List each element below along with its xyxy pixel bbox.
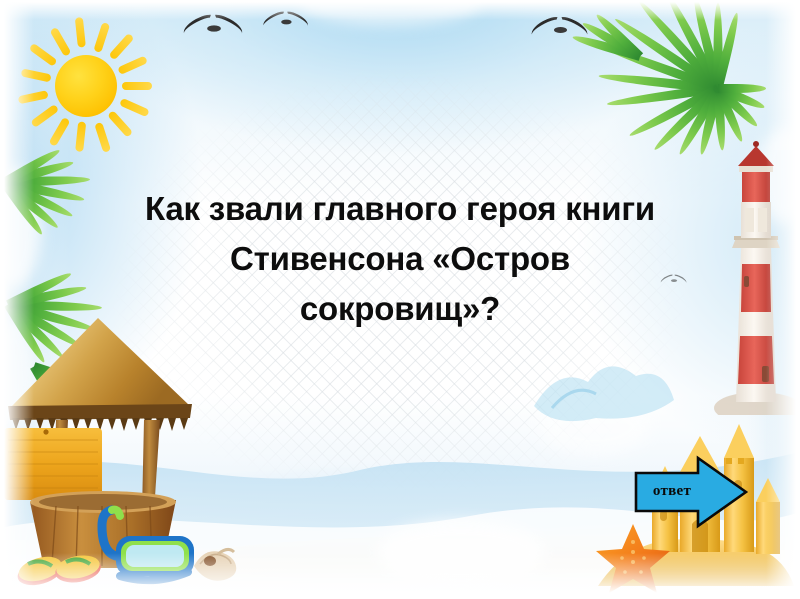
page-title: Как звали главного героя книги Стивенсон…: [40, 184, 760, 334]
palm-frond-icon: [640, 52, 641, 53]
palm-frond-icon: [8, 300, 9, 301]
tiki-hut-icon: [0, 300, 244, 599]
snorkel-mask-icon: [102, 510, 194, 581]
flip-flops-icon: [15, 552, 103, 590]
quiz-slide: Как звали главного героя книги Стивенсон…: [0, 0, 800, 599]
sun-icon: [22, 22, 150, 150]
water-splash-icon: [540, 398, 650, 456]
starfish-icon: [594, 522, 672, 596]
palm-frond-icon: [718, 84, 719, 85]
answer-button-label: ответ: [640, 482, 704, 500]
water-splash-icon: [0, 318, 38, 426]
water-splash-icon: [300, 0, 480, 26]
seashell-icon: [194, 549, 236, 580]
water-splash-icon: [756, 128, 800, 224]
water-splash-icon: [0, 168, 42, 288]
answer-button[interactable]: ответ: [634, 455, 748, 529]
water-splash-icon: [376, 520, 546, 586]
